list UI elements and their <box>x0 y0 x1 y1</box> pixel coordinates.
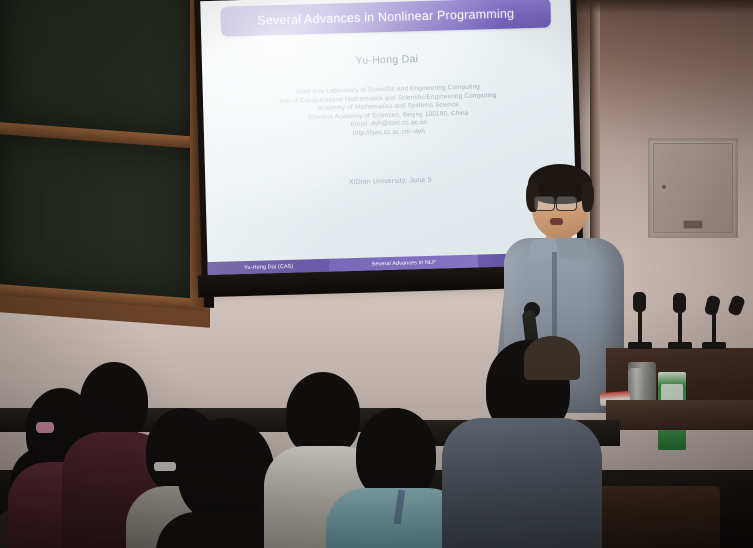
mic-stand-1-head <box>633 292 646 312</box>
audience-head-6 <box>286 372 360 456</box>
chalkboard-group <box>0 0 216 333</box>
hair-clip-pink-icon <box>36 422 54 433</box>
mic-stand-2-head <box>673 293 686 313</box>
audience-head-3 <box>80 362 148 440</box>
audience-head-7 <box>356 408 436 500</box>
speaker-mouth <box>550 218 563 225</box>
panel-latch-icon <box>684 221 702 228</box>
audience-head-5 <box>178 418 274 522</box>
eyeglasses-icon-right <box>556 196 577 211</box>
eyeglasses-bridge <box>553 201 557 203</box>
slide-title-bar: Several Advances in Nonlinear Programmin… <box>220 0 551 37</box>
speaker-hair-right <box>582 182 594 212</box>
chalkboard-upper <box>0 0 198 137</box>
slide-author: Yu-Hong Dai <box>202 49 572 71</box>
slide-affiliation-block: State Key Laboratory of Scientific and E… <box>203 81 574 143</box>
panel-screw-icon <box>662 185 666 189</box>
chalkboard-lower <box>0 134 198 299</box>
hair-clip-white-icon <box>154 462 176 471</box>
slide-title: Several Advances in Nonlinear Programmin… <box>257 6 514 27</box>
mic-stand-1-base <box>628 342 652 349</box>
rear-table-front <box>606 400 753 430</box>
lecture-hall-photo: Several Advances in Nonlinear Programmin… <box>0 0 753 548</box>
audience-head-9 <box>524 336 580 380</box>
eyeglasses-icon-left <box>534 196 555 211</box>
audience-shoulders-8-gray <box>442 418 602 548</box>
mic-stand-2-base <box>668 342 692 349</box>
mic-stand-3-base <box>702 342 726 349</box>
wall-access-panel <box>648 138 738 238</box>
